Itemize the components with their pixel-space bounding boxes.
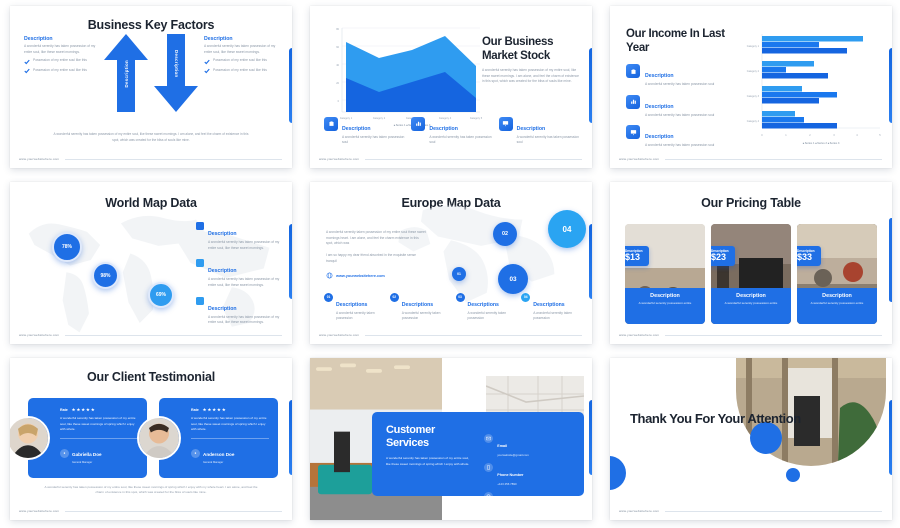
- feature-card[interactable]: Description A wonderful serenity has tak…: [626, 125, 746, 149]
- europe-paragraph-2: I am so happy my dear friend absorbed in…: [326, 253, 426, 264]
- star-icon: ★★★★★: [72, 407, 96, 412]
- feature-card-body: A wonderful serenity has taken possessio…: [645, 113, 714, 119]
- slide-client-testimonial[interactable]: Our Client Testimonial Rate ★★★★★ A wond…: [10, 358, 292, 520]
- legend-swatch-icon: [196, 297, 204, 305]
- check-icon: [204, 68, 210, 74]
- feature-card[interactable]: Description A wonderful serenity has tak…: [626, 95, 746, 119]
- presentation-icon: [499, 117, 513, 131]
- description-item[interactable]: 02 Descriptions A wonderful serenity tak…: [390, 293, 451, 322]
- slide-accent-tab: [889, 48, 892, 123]
- check-label: Possession of my entire soul like this: [33, 68, 87, 75]
- contact-label: Phone Number: [497, 473, 523, 477]
- globe-icon: [484, 492, 493, 501]
- footer-url: www.yourwebsitehere.com: [619, 157, 659, 161]
- check-icon: [24, 68, 30, 74]
- svg-text:Category 1: Category 1: [747, 45, 760, 48]
- market-stock-body: A wonderful serenity has taken possessio…: [482, 68, 582, 85]
- slide-accent-tab: [589, 400, 592, 475]
- website-link[interactable]: www.yourwebsitehere.com: [326, 272, 426, 279]
- description-body: A wonderful serenity taken possession: [336, 311, 385, 322]
- slide-cell-7[interactable]: Our Client Testimonial Rate ★★★★★ A wond…: [0, 352, 300, 528]
- divider: [60, 438, 138, 439]
- income-title-block: Our Income In Last Year: [626, 28, 730, 56]
- right-description-body: A wonderful serenity has taken possessio…: [204, 44, 278, 55]
- contact-value: +123 456 7890: [497, 482, 523, 486]
- check-item: Possession of my entire soul like this: [24, 68, 98, 75]
- star-icon: ★★★★★: [203, 407, 227, 412]
- testimonial-author: ● Gabriella Doe General Manager: [60, 443, 138, 464]
- left-description-block: Description A wonderful serenity has tak…: [24, 36, 98, 74]
- description-heading: Descriptions: [336, 302, 367, 308]
- feature-card-body: A wonderful serenity has taken possessio…: [429, 135, 492, 146]
- slide-accent-tab: [289, 48, 292, 123]
- footer-rule: [665, 511, 882, 512]
- slide-customer-services[interactable]: Customer Services A wonderful serenity h…: [310, 358, 592, 520]
- contact-label: Email: [497, 444, 507, 448]
- contact-value: http://yourwebsitehere.com: [497, 511, 532, 515]
- slide-business-key-factors[interactable]: Business Key Factors Description Descrip…: [10, 6, 292, 168]
- feature-card-heading: Description: [342, 126, 371, 132]
- number-badge: 02: [390, 293, 399, 302]
- svg-text:Category 4: Category 4: [747, 120, 760, 123]
- income-feature-list: Description A wonderful serenity has tak…: [626, 64, 746, 156]
- pricing-card-heading: Description: [625, 293, 705, 299]
- svg-text:■ Series 1 ■ Series 2 ■ Seri: ■ Series 1 ■ Series 2 ■ Series 3: [803, 142, 840, 145]
- feature-card[interactable]: Description A wonderful serenity has tak…: [411, 117, 492, 146]
- slide-pricing-table[interactable]: Our Pricing Table Description $13 Descri…: [610, 182, 892, 344]
- svg-text:60: 60: [336, 46, 339, 49]
- feature-card-heading: Description: [645, 104, 674, 110]
- footer-rule: [365, 159, 582, 160]
- svg-text:2: 2: [809, 134, 811, 137]
- check-icon: [204, 59, 210, 65]
- rating-label: Rate: [191, 408, 199, 412]
- page-title: Our Business Market Stock: [482, 36, 582, 63]
- slide-footnote: A wonderful serenity has taken possessio…: [44, 485, 258, 496]
- slide-cell-8[interactable]: Customer Services A wonderful serenity h…: [300, 352, 600, 528]
- feature-card-body: A wonderful serenity has taken possessio…: [645, 82, 714, 88]
- user-icon: ●: [60, 449, 69, 458]
- chart-bar-icon: [626, 95, 640, 109]
- description-heading: Descriptions: [533, 302, 564, 308]
- check-item: Possession of my entire soul like this: [204, 68, 278, 75]
- check-item: Possession of my entire soul like this: [24, 58, 98, 65]
- footer-url: www.yourwebsitehere.com: [19, 509, 59, 513]
- contact-item[interactable]: Email yourwebsite@gmail.com: [484, 434, 578, 457]
- slide-europe-map-data[interactable]: Europe Map Data A wonderful serenity tak…: [310, 182, 592, 344]
- slide-footer: www.yourwebsitehere.com: [619, 509, 882, 513]
- slide-cell-2[interactable]: 8060 40200 Category 1Category 2 Category…: [300, 0, 600, 176]
- check-label: Possession of my entire soul like this: [213, 58, 267, 65]
- legend-item[interactable]: Description A wonderful serenity has tak…: [196, 297, 282, 326]
- envelope-icon: [484, 434, 493, 443]
- slide-footer: www.yourwebsitehere.com: [19, 333, 282, 337]
- arrow-up: Description: [104, 34, 148, 112]
- slide-cell-3[interactable]: Our Income In Last Year Description A wo…: [600, 0, 900, 176]
- decorative-circle: [610, 456, 626, 490]
- slide-accent-tab: [889, 218, 892, 302]
- contact-label: Website: [497, 502, 511, 506]
- slide-footer: www.yourwebsitehere.com: [619, 157, 882, 161]
- footer-rule: [665, 335, 882, 336]
- footer-url: www.yourwebsitehere.com: [619, 509, 659, 513]
- slide-business-market-stock[interactable]: 8060 40200 Category 1Category 2 Category…: [310, 6, 592, 168]
- slide-cell-6[interactable]: Our Pricing Table Description $13 Descri…: [600, 176, 900, 352]
- arrow-down: Description: [154, 34, 198, 112]
- contact-value: yourwebsite@gmail.com: [497, 453, 529, 457]
- slide-accent-tab: [589, 48, 592, 123]
- map-bubble[interactable]: 69%: [148, 282, 174, 308]
- page-title: Our Pricing Table: [610, 196, 892, 210]
- footer-url: www.yourwebsitehere.com: [319, 157, 359, 161]
- pricing-card-footer: Description A wonderful serenity possess…: [797, 288, 877, 324]
- feature-card-heading: Description: [645, 73, 674, 79]
- footer-url: www.yourwebsitehere.com: [319, 333, 359, 337]
- feature-card-body: A wonderful serenity has taken possessio…: [645, 143, 714, 149]
- testimonial-card[interactable]: Rate ★★★★★ A wonderful serenity has take…: [28, 398, 147, 478]
- legend-item[interactable]: Description A wonderful serenity has tak…: [196, 259, 282, 288]
- footer-rule: [65, 335, 282, 336]
- pricing-card-list: Description $13 Description A wonderful …: [622, 224, 880, 324]
- market-stock-title-block: Our Business Market Stock A wonderful se…: [482, 36, 582, 85]
- thank-you-title-block: Thank You For Your Attention: [630, 410, 801, 428]
- testimonial-list: Rate ★★★★★ A wonderful serenity has take…: [28, 398, 278, 478]
- contact-item[interactable]: Website http://yourwebsitehere.com: [484, 492, 578, 515]
- contact-title-block: Customer Services A wonderful serenity h…: [372, 412, 482, 496]
- map-bubble[interactable]: 78%: [52, 232, 82, 262]
- price-value: $13: [625, 253, 643, 262]
- slide-world-map-data[interactable]: World Map Data 78% 98% 69% Description A…: [10, 182, 292, 344]
- description-body: A wonderful serenity taken possession: [402, 311, 451, 322]
- user-icon: ●: [191, 449, 200, 458]
- page-title: Our Client Testimonial: [10, 370, 292, 384]
- rating-row: Rate ★★★★★: [60, 407, 138, 412]
- divider: [191, 438, 269, 439]
- svg-text:1: 1: [785, 134, 787, 137]
- slide-footer: www.yourwebsitehere.com: [19, 157, 282, 161]
- pricing-card[interactable]: Description $13 Description A wonderful …: [625, 224, 705, 324]
- description-item[interactable]: 01 Descriptions A wonderful serenity tak…: [324, 293, 385, 322]
- pricing-card-heading: Description: [711, 293, 791, 299]
- contact-body: A wonderful serenity has taken possessio…: [386, 456, 474, 467]
- briefcase-icon: [626, 64, 640, 78]
- description-heading: Descriptions: [402, 302, 433, 308]
- legend-heading: Description: [208, 306, 237, 312]
- europe-text-block: A wonderful serenity taken possession of…: [326, 230, 426, 279]
- number-badge: 03: [456, 293, 465, 302]
- pricing-card-body: A wonderful serenity possession entire: [797, 301, 877, 306]
- author-role: General Manager: [203, 461, 234, 464]
- check-item: Possession of my entire soul like this: [204, 58, 278, 65]
- map-bubble[interactable]: 02: [493, 222, 517, 246]
- footer-rule: [65, 159, 282, 160]
- feature-card-list: Description A wonderful serenity has tak…: [324, 117, 580, 146]
- footer-url: www.yourwebsitehere.com: [19, 157, 59, 161]
- svg-text:4: 4: [856, 134, 858, 137]
- rating-row: Rate ★★★★★: [191, 407, 269, 412]
- rating-label: Rate: [60, 408, 68, 412]
- feature-card-heading: Description: [429, 126, 458, 132]
- footer-rule: [65, 511, 282, 512]
- footer-url: www.yourwebsitehere.com: [619, 333, 659, 337]
- right-description-block: Description A wonderful serenity has tak…: [204, 36, 278, 74]
- testimonial-card[interactable]: Rate ★★★★★ A wonderful serenity has take…: [159, 398, 278, 478]
- price-tag: Description $13: [625, 246, 649, 266]
- legend-body: A wonderful serenity has taken possessio…: [208, 277, 282, 288]
- pricing-card-body: A wonderful serenity possession entire: [625, 301, 705, 306]
- slide-accent-tab: [889, 400, 892, 475]
- contact-panel: Customer Services A wonderful serenity h…: [372, 412, 584, 496]
- avatar: [137, 416, 181, 460]
- pricing-card-footer: Description A wonderful serenity possess…: [711, 288, 791, 324]
- legend-item[interactable]: Description A wonderful serenity has tak…: [196, 222, 282, 251]
- slide-income-last-year[interactable]: Our Income In Last Year Description A wo…: [610, 6, 892, 168]
- pricing-card[interactable]: Description $33 Description A wonderful …: [797, 224, 877, 324]
- presentation-icon: [626, 125, 640, 139]
- feature-card-heading: Description: [645, 134, 674, 140]
- decorative-circle: [786, 468, 800, 482]
- left-description-body: A wonderful serenity has taken possessio…: [24, 44, 98, 55]
- contact-list: Email yourwebsite@gmail.com Phone Number…: [482, 412, 584, 496]
- author-role: General Manager: [72, 461, 102, 464]
- slide-footer: www.yourwebsitehere.com: [319, 333, 582, 337]
- briefcase-icon: [324, 117, 338, 131]
- svg-text:40: 40: [336, 64, 339, 67]
- phone-icon: [484, 463, 493, 472]
- price-value: $23: [711, 253, 729, 262]
- feature-card-body: A wonderful serenity has taken possessio…: [342, 135, 405, 146]
- slide-footnote: A wonderful serenity has taken possessio…: [50, 132, 252, 144]
- legend-heading: Description: [208, 268, 237, 274]
- legend-heading: Description: [208, 231, 237, 237]
- description-item[interactable]: 03 Descriptions A wonderful serenity tak…: [456, 293, 517, 322]
- author-name: Gabriella Doe: [72, 452, 102, 457]
- testimonial-body: A wonderful serenity has taken possessio…: [60, 416, 138, 433]
- pricing-card-body: A wonderful serenity possession entire: [711, 301, 791, 306]
- avatar: [10, 416, 50, 460]
- arrow-pair: Description Description: [104, 34, 198, 112]
- page-title: Our Income In Last Year: [626, 28, 730, 56]
- website-link-label: www.yourwebsitehere.com: [336, 274, 385, 278]
- description-item[interactable]: 04 Descriptions A wonderful serenity tak…: [521, 293, 582, 322]
- arrow-up-label: Description: [124, 60, 129, 87]
- area-chart: 8060 40200 Category 1Category 2 Category…: [324, 20, 484, 128]
- svg-text:Category 2: Category 2: [747, 70, 760, 73]
- page-title: Thank You For Your Attention: [630, 410, 801, 428]
- legend-body: A wonderful serenity has taken possessio…: [208, 240, 282, 251]
- slide-cell-5[interactable]: Europe Map Data A wonderful serenity tak…: [300, 176, 600, 352]
- slide-deck: Business Key Factors Description Descrip…: [0, 0, 900, 528]
- price-tag: Description $33: [797, 246, 821, 266]
- legend-swatch-icon: [196, 222, 204, 230]
- svg-text:0: 0: [338, 100, 340, 103]
- slide-footer: www.yourwebsitehere.com: [619, 333, 882, 337]
- feature-card-body: A wonderful serenity has taken possessio…: [517, 135, 580, 146]
- author-name: Anderson Doe: [203, 452, 234, 457]
- svg-text:80: 80: [336, 28, 339, 31]
- map-bubble[interactable]: 04: [548, 210, 586, 248]
- description-body: A wonderful serenity taken possession: [468, 311, 517, 322]
- slide-footer: www.yourwebsitehere.com: [319, 157, 582, 161]
- map-bubble[interactable]: 03: [498, 264, 528, 294]
- feature-card[interactable]: Description A wonderful serenity has tak…: [626, 64, 746, 88]
- feature-card[interactable]: Description A wonderful serenity has tak…: [499, 117, 580, 146]
- contact-item[interactable]: Phone Number +123 456 7890: [484, 463, 578, 486]
- feature-card-heading: Description: [517, 126, 546, 132]
- slide-cell-9[interactable]: Thank You For Your Attention www.yourweb…: [600, 352, 900, 528]
- svg-text:Category 3: Category 3: [747, 95, 760, 98]
- globe-icon: [326, 272, 333, 279]
- check-label: Possession of my entire soul like this: [213, 68, 267, 75]
- testimonial-author: ● Anderson Doe General Manager: [191, 443, 269, 464]
- page-title: Customer Services: [386, 424, 474, 450]
- pricing-card-footer: Description A wonderful serenity possess…: [625, 288, 705, 324]
- horizontal-bar-chart: Category 1Category 2 Category 3Category …: [736, 28, 884, 148]
- price-tag: Description $23: [711, 246, 735, 266]
- price-value: $33: [797, 253, 815, 262]
- check-label: Possession of my entire soul like this: [33, 58, 87, 65]
- right-description-heading: Description: [204, 36, 278, 42]
- description-body: A wonderful serenity taken possession: [533, 311, 582, 322]
- slide-footer: www.yourwebsitehere.com: [19, 509, 282, 513]
- description-heading: Descriptions: [468, 302, 499, 308]
- svg-text:5: 5: [879, 134, 881, 137]
- footer-rule: [365, 335, 582, 336]
- map-bubble[interactable]: 01: [452, 267, 466, 281]
- slide-accent-tab: [289, 400, 292, 475]
- europe-description-list: 01 Descriptions A wonderful serenity tak…: [324, 293, 582, 322]
- page-title: Business Key Factors: [10, 18, 292, 32]
- svg-text:3: 3: [833, 134, 835, 137]
- pricing-card[interactable]: Description $23 Description A wonderful …: [711, 224, 791, 324]
- footer-rule: [665, 159, 882, 160]
- legend-body: A wonderful serenity has taken possessio…: [208, 315, 282, 326]
- number-badge: 04: [521, 293, 530, 302]
- feature-card[interactable]: Description A wonderful serenity has tak…: [324, 117, 405, 146]
- slide-thank-you[interactable]: Thank You For Your Attention www.yourweb…: [610, 358, 892, 520]
- footer-url: www.yourwebsitehere.com: [19, 333, 59, 337]
- number-badge: 01: [324, 293, 333, 302]
- testimonial-body: A wonderful serenity has taken possessio…: [191, 416, 269, 433]
- svg-text:0: 0: [761, 134, 763, 137]
- map-bubble[interactable]: 98%: [92, 262, 119, 289]
- svg-text:20: 20: [336, 82, 339, 85]
- slide-cell-4[interactable]: World Map Data 78% 98% 69% Description A…: [0, 176, 300, 352]
- arrow-down-label: Description: [174, 50, 179, 77]
- check-icon: [24, 59, 30, 65]
- legend-swatch-icon: [196, 259, 204, 267]
- left-description-heading: Description: [24, 36, 98, 42]
- slide-cell-1[interactable]: Business Key Factors Description Descrip…: [0, 0, 300, 176]
- pricing-card-heading: Description: [797, 293, 877, 299]
- europe-paragraph-1: A wonderful serenity taken possession of…: [326, 230, 426, 247]
- chart-bar-icon: [411, 117, 425, 131]
- world-map-legend-list: Description A wonderful serenity has tak…: [196, 222, 282, 334]
